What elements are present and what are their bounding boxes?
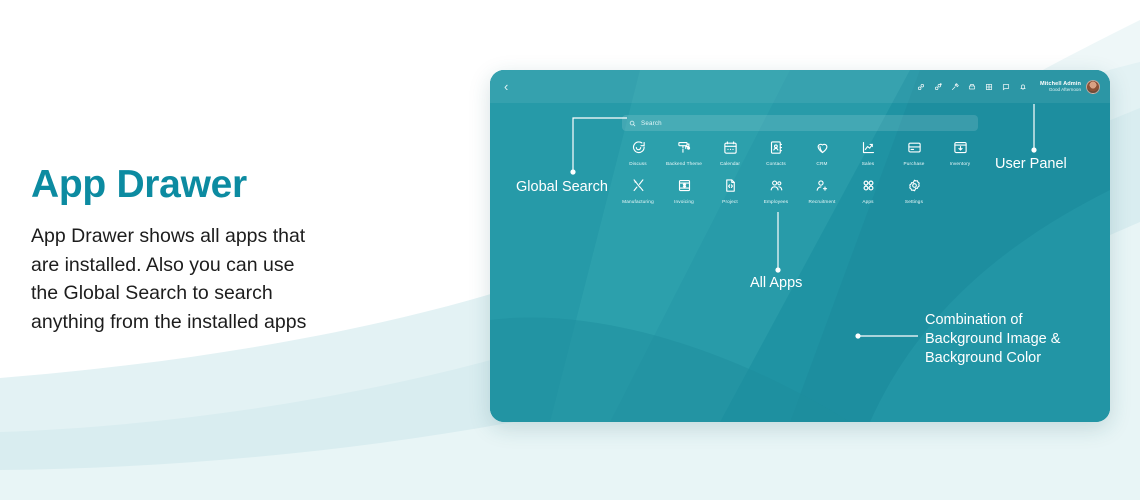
heart-icon [815,138,830,157]
system-tray: Mitchell Admin Good Afternoon [917,80,1100,94]
app-item-employees[interactable]: Employees [753,176,799,204]
app-item-calendar[interactable]: Calendar [707,138,753,166]
calendar-icon [723,138,738,157]
app-label: Recruitment [809,199,836,204]
annotation-label: All Apps [750,274,802,293]
app-item-inventory[interactable]: Inventory [937,138,983,166]
people-icon [769,176,784,195]
app-label: Calendar [720,161,740,166]
print-icon[interactable] [968,83,976,91]
app-item-contacts[interactable]: Contacts [753,138,799,166]
annotation-label: Global Search [516,178,608,197]
app-label: Backend Theme [666,161,702,166]
global-search-bar[interactable]: Search [622,115,978,131]
app-item-settings[interactable]: Settings [891,176,937,204]
annotation-user-panel: User Panel [995,155,1067,174]
app-label: Purchase [903,161,924,166]
app-label: Apps [862,199,873,204]
search-icon [629,120,636,127]
app-label: Sales [862,161,874,166]
bell-icon[interactable] [1019,83,1027,91]
annotation-label: User Panel [995,155,1067,174]
app-grid: Discuss Backend Theme Calendar Contacts … [615,138,983,204]
app-item-project[interactable]: Project [707,176,753,204]
contacts-book-icon [769,138,784,157]
avatar[interactable] [1086,80,1100,94]
paint-roller-icon [677,138,692,157]
card-icon [907,138,922,157]
app-item-invoicing[interactable]: Invoicing [661,176,707,204]
annotation-global-search: Global Search [516,178,608,197]
app-item-apps[interactable]: Apps [845,176,891,204]
app-label: Inventory [950,161,971,166]
app-label: CRM [816,161,827,166]
search-placeholder: Search [641,120,662,127]
app-label: Contacts [766,161,786,166]
bug-icon[interactable] [917,83,925,91]
annotation-all-apps: All Apps [750,274,802,293]
apps-grid-icon [861,176,876,195]
person-add-icon [815,176,830,195]
app-label: Discuss [629,161,646,166]
invoice-dollar-icon [677,176,692,195]
app-label: Manufacturing [622,199,654,204]
app-item-crm[interactable]: CRM [799,138,845,166]
page-description: App Drawer shows all apps that are insta… [31,222,451,336]
app-item-purchase[interactable]: Purchase [891,138,937,166]
app-label: Invoicing [674,199,694,204]
panel-top-bar: ‹ Mitchell Admin Good Afternoon [490,70,1110,103]
page-title: App Drawer [31,162,451,208]
grid-icon[interactable] [985,83,993,91]
user-text: Mitchell Admin Good Afternoon [1040,81,1081,93]
app-label: Settings [905,199,923,204]
user-greeting: Good Afternoon [1040,87,1081,92]
bug-badge-icon[interactable] [934,83,942,91]
tools-icon [631,176,646,195]
document-code-icon [723,176,738,195]
discuss-icon [631,138,646,157]
line-chart-icon [861,138,876,157]
annotation-label: Combination of Background Image & Backgr… [925,311,1060,368]
app-item-manufacturing[interactable]: Manufacturing [615,176,661,204]
chevron-left-icon[interactable]: ‹ [504,80,508,93]
app-item-sales[interactable]: Sales [845,138,891,166]
app-item-recruitment[interactable]: Recruitment [799,176,845,204]
copy-block: App Drawer App Drawer shows all apps tha… [31,162,451,336]
wrench-icon[interactable] [951,83,959,91]
user-panel[interactable]: Mitchell Admin Good Afternoon [1040,80,1100,94]
gear-icon [907,176,922,195]
app-label: Project [722,199,738,204]
app-item-discuss[interactable]: Discuss [615,138,661,166]
chat-icon[interactable] [1002,83,1010,91]
app-label: Employees [764,199,789,204]
inventory-box-icon [953,138,968,157]
annotation-background: Combination of Background Image & Backgr… [925,311,1060,368]
app-drawer-panel: ‹ Mitchell Admin Good Afternoon Search [490,70,1110,422]
app-item-backend-theme[interactable]: Backend Theme [661,138,707,166]
